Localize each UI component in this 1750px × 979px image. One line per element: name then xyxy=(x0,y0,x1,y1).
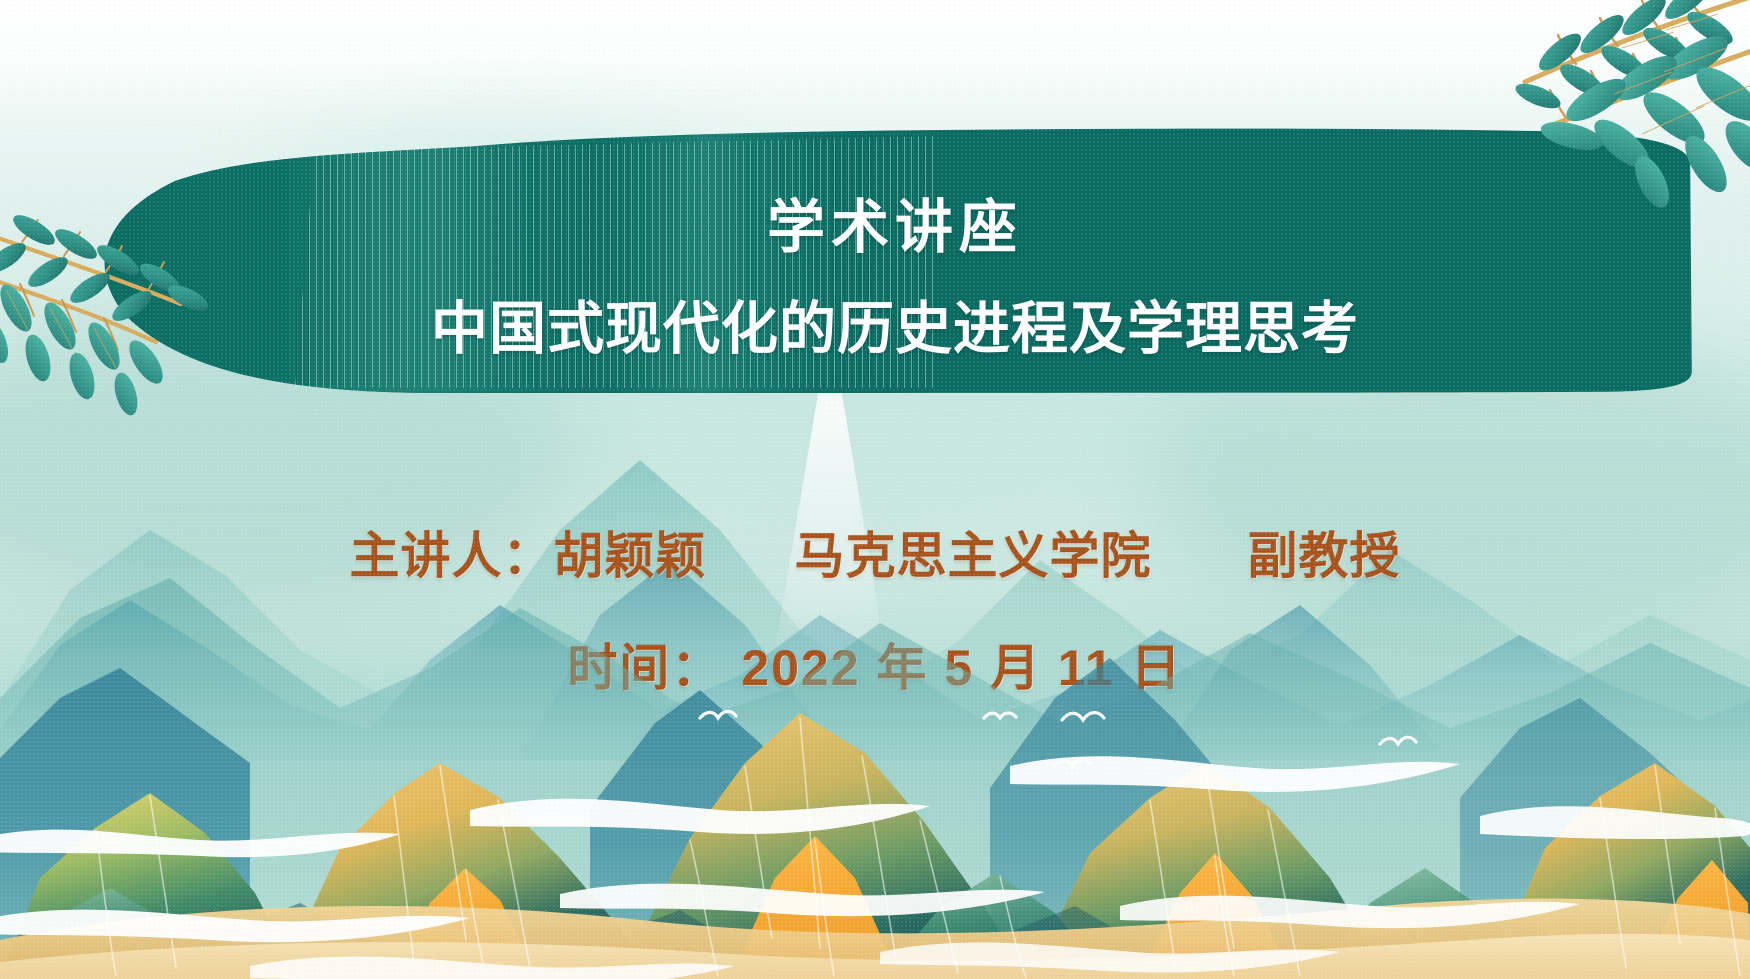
lecture-poster: 学术讲座 中国式现代化的历史进程及学理思考 主讲人：胡颖颖马克思主义学院副教授 … xyxy=(0,0,1750,979)
paper-grain xyxy=(0,0,1750,979)
